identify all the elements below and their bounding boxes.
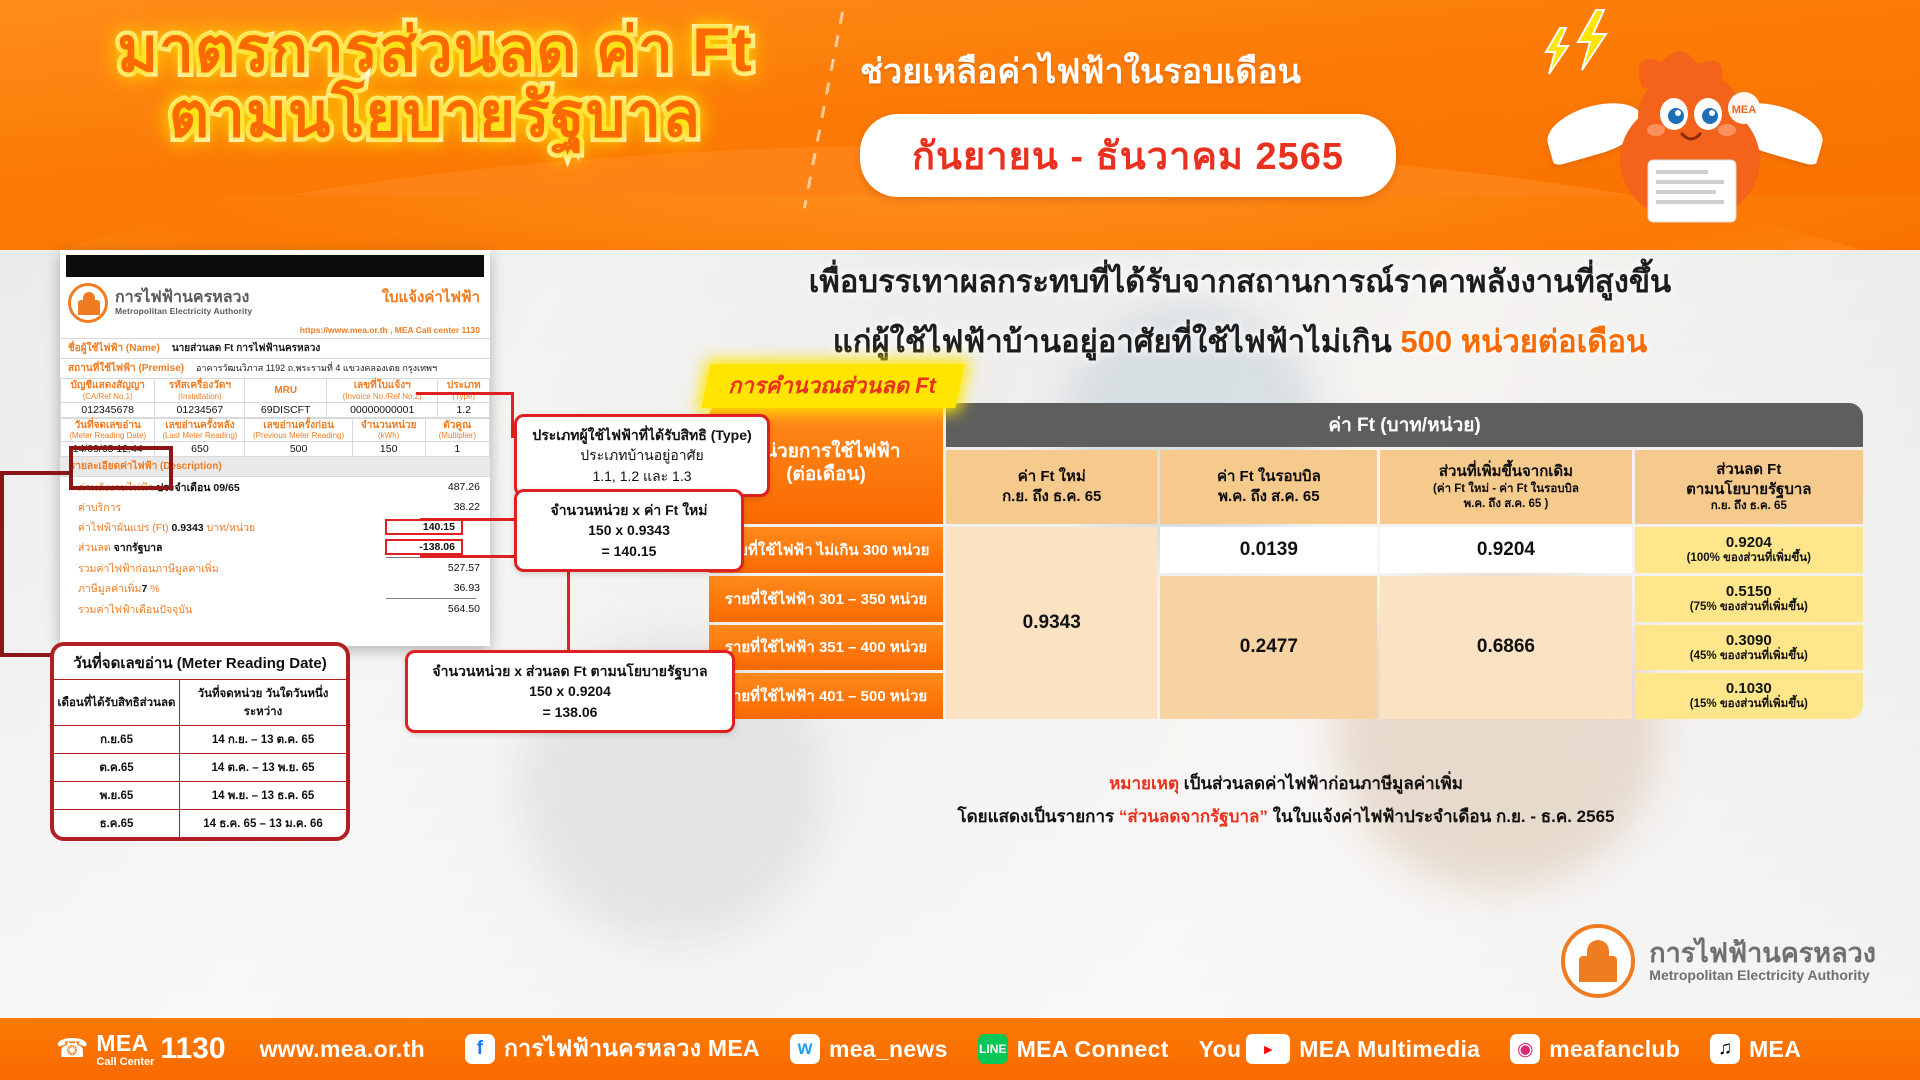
bill-line-item-total: รวมค่าไฟฟ้าเดือนปัจจุบัน 564.50 <box>60 599 490 619</box>
note-line-2: โดยแสดงเป็นรายการ “ส่วนลดจากรัฐบาล” ในใบ… <box>706 803 1866 830</box>
discount-note-3: (15% ของส่วนที่เพิ่มขึ้น) <box>1637 698 1861 712</box>
subhead-3-l1: ส่วนลด Ft <box>1640 460 1858 480</box>
subhead-3-l3: ก.ย. ถึง ธ.ค. 65 <box>1640 499 1858 514</box>
bill-line-label: ค่าไฟฟ้าผันแปร (Ft) 0.9343 บาท/หน่วย <box>78 519 385 536</box>
bill-line-amount: 527.57 <box>385 562 480 574</box>
table-row: เดือนที่ได้รับสิทธิส่วนลด วันที่จดหน่วย … <box>54 680 346 726</box>
footer-line[interactable]: LINE MEA Connect <box>978 1034 1169 1064</box>
callout-type-line2: ประเภทบ้านอยู่อาศัย <box>531 445 753 465</box>
col-subhead-increase: ส่วนที่เพิ่มขึ้นจากเดิม (ค่า Ft ใหม่ - ค… <box>1380 450 1631 524</box>
bill-line-amount: 36.93 <box>385 582 480 594</box>
bill-total-amount: 564.50 <box>385 603 480 615</box>
footer-line-label: MEA Connect <box>1017 1036 1169 1063</box>
footer-tiktok-label: MEA <box>1749 1036 1801 1063</box>
subhead-3-l2: ตามนโยบายรัฐบาล <box>1640 480 1858 500</box>
subhead-0-l2: ก.ย. ถึง ธ.ค. 65 <box>951 487 1152 507</box>
meter-head-0: วันที่จดเลขอ่าน <box>63 420 152 432</box>
footer-facebook[interactable]: f การไฟฟ้านครหลวง MEA <box>465 1031 760 1067</box>
mascot-body: MEA <box>1530 10 1850 240</box>
col-group-head-ft: ค่า Ft (บาท/หน่วย) <box>946 403 1863 447</box>
meter-head-1: เลขอ่านครั้งหลัง <box>157 420 242 432</box>
bill-doc-title: ใบแจ้งค่าไฟฟ้า <box>382 285 480 309</box>
callout-ft-new: จำนวนหน่วย x ค่า Ft ใหม่ 150 x 0.9343 = … <box>514 489 744 572</box>
note-line-2-b: ในใบแจ้งค่าไฟฟ้าประจำเดือน ก.ย. - ธ.ค. 2… <box>1268 807 1615 826</box>
mrd-cell-month: ก.ย.65 <box>54 726 180 754</box>
acct-head-en-0: (CA/Ref No.1) <box>63 392 152 401</box>
footer-youtube-you: You <box>1199 1036 1242 1063</box>
note-line-1-rest: เป็นส่วนลดค่าไฟฟ้าก่อนภาษีมูลค่าเพิ่ม <box>1179 774 1463 793</box>
meter-head-en-3: (kWh) <box>355 431 423 440</box>
twitter-icon: w <box>790 1034 820 1064</box>
callout-ftnew-line1: จำนวนหน่วย x ค่า Ft ใหม่ <box>531 500 727 520</box>
callout-discount-line1: จำนวนหน่วย x ส่วนลด Ft ตามนโยบายรัฐบาล <box>422 661 718 681</box>
col-subhead-ft-old: ค่า Ft ในรอบบิล พ.ค. ถึง ส.ค. 65 <box>1160 450 1377 524</box>
mrd-cell-range: 14 ต.ค. – 13 พ.ย. 65 <box>180 754 346 782</box>
table-row: รายที่ใช้ไฟฟ้า 301 – 350 หน่วย 0.2477 0.… <box>709 576 1863 622</box>
subhead-2-l2: (ค่า Ft ใหม่ - ค่า Ft ในรอบบิล <box>1385 482 1626 497</box>
bill-barcode-bar <box>66 255 484 277</box>
footer-facebook-label: การไฟฟ้านครหลวง MEA <box>504 1031 760 1067</box>
mea-mascot: MEA <box>1530 10 1850 240</box>
acct-val-2: 69DISCFT <box>245 402 327 417</box>
footer-callcenter-label: Call Center <box>96 1057 154 1069</box>
mrd-cell-range: 14 ก.ย. – 13 ต.ค. 65 <box>180 726 346 754</box>
ft-discount-table: หน่วยการใช้ไฟฟ้า (ต่อเดือน) ค่า Ft (บาท/… <box>706 400 1866 722</box>
note-line-1: หมายเหตุ เป็นส่วนลดค่าไฟฟ้าก่อนภาษีมูลค่… <box>706 770 1866 797</box>
footer-website-label: www.mea.or.th <box>260 1036 425 1063</box>
discount-value-0: 0.9204 <box>1637 534 1861 552</box>
cell-discount-0: 0.9204 (100% ของส่วนที่เพิ่มขึ้น) <box>1635 527 1863 573</box>
meter-head-en-2: (Previous Meter Reading) <box>247 431 349 440</box>
footer-mea-label: MEA <box>96 1030 154 1057</box>
instagram-icon: ◉ <box>1510 1034 1540 1064</box>
cell-ft-old-0: 0.0139 <box>1160 527 1377 573</box>
subhead-1-l1: ค่า Ft ในรอบบิล <box>1165 467 1372 487</box>
acct-val-4: 1.2 <box>438 402 490 417</box>
bill-account-table: บัญชีแสดงสัญญา (CA/Ref No.1) รหัสเครื่อง… <box>60 378 490 418</box>
note-line-2-quote: “ส่วนลดจากรัฐบาล” <box>1119 807 1268 826</box>
bill-line-item: ภาษีมูลค่าเพิ่ม7 % 36.93 <box>60 578 490 598</box>
mrd-cell-range: 14 พ.ย. – 13 ธ.ค. 65 <box>180 782 346 810</box>
description-line-1: เพื่อบรรเทาผลกระทบที่ได้รับจากสถานการณ์ร… <box>575 256 1905 306</box>
row-label-2: รายที่ใช้ไฟฟ้า 351 – 400 หน่วย <box>709 625 943 671</box>
mea-logo-circle-icon <box>1561 924 1635 998</box>
electricity-bill-card: การไฟฟ้านครหลวง Metropolitan Electricity… <box>60 250 490 646</box>
callout-ftnew-line3: = 140.15 <box>531 541 727 561</box>
meter-head-en-4: (Multiplier) <box>428 431 487 440</box>
table-row: ต.ค.65 14 ต.ค. – 13 พ.ย. 65 <box>54 754 346 782</box>
acct-val-0: 012345678 <box>61 402 155 417</box>
table-row: พ.ย.65 14 พ.ย. – 13 ธ.ค. 65 <box>54 782 346 810</box>
mrd-cell-range: 14 ธ.ค. 65 – 13 ม.ค. 66 <box>180 810 346 838</box>
tiktok-icon: ♫ <box>1710 1034 1740 1064</box>
bill-premise-value: อาคารวัฒนวิภาส 1192 ถ.พระรามที่ 4 แขวงคล… <box>196 361 437 375</box>
header-banner: มาตรการส่วนลด ค่า Ft ตามนโยบายรัฐบาล ช่ว… <box>0 0 1920 255</box>
mrd-header-0: เดือนที่ได้รับสิทธิส่วนลด <box>54 680 180 726</box>
bill-line-item: รวมค่าไฟฟ้าก่อนภาษีมูลค่าเพิ่ม 527.57 <box>60 558 490 578</box>
acct-head-4: ประเภท <box>440 380 487 392</box>
footer-tiktok[interactable]: ♫ MEA <box>1710 1034 1801 1064</box>
discount-value-2: 0.3090 <box>1637 632 1861 650</box>
note-block: หมายเหตุ เป็นส่วนลดค่าไฟฟ้าก่อนภาษีมูลค่… <box>706 770 1866 830</box>
footer-twitter-label: mea_news <box>829 1036 948 1063</box>
meter-val-3: 150 <box>352 442 425 457</box>
cell-discount-3: 0.1030 (15% ของส่วนที่เพิ่มขึ้น) <box>1635 673 1863 719</box>
bill-line-label: ค่าบริการ <box>78 499 385 516</box>
subhead-1-l2: พ.ค. ถึง ส.ค. 65 <box>1165 487 1372 507</box>
footer-instagram[interactable]: ◉ meafanclub <box>1510 1034 1680 1064</box>
footer-website[interactable]: www.mea.or.th <box>260 1036 425 1063</box>
bill-name-row: ชื่อผู้ใช้ไฟฟ้า (Name) นายส่วนลด Ft การไ… <box>60 338 490 358</box>
callout-discount: จำนวนหน่วย x ส่วนลด Ft ตามนโยบายรัฐบาล 1… <box>405 650 735 733</box>
cell-ft-old-1: 0.2477 <box>1160 576 1377 719</box>
bill-line-label: ส่วนลด จากรัฐบาล <box>78 539 385 556</box>
callout-ftnew-line2: 150 x 0.9343 <box>531 520 727 540</box>
bill-line-label: รวมค่าไฟฟ้าเดือนปัจจุบัน <box>78 601 385 618</box>
acct-head-3: เลขที่ใบแจ้งฯ <box>329 380 436 392</box>
connector-ftnew <box>420 518 515 521</box>
description-line-2: แก่ผู้ใช้ไฟฟ้าบ้านอยู่อาศัยที่ใช้ไฟฟ้าไม… <box>575 316 1905 366</box>
facebook-icon: f <box>465 1034 495 1064</box>
callout-discount-line3: = 138.06 <box>422 702 718 722</box>
bill-meter-table: วันที่จดเลขอ่าน (Meter Reading Date) เลข… <box>60 418 490 458</box>
bill-discount-amount: -138.06 <box>385 539 463 555</box>
acct-head-2: MRU <box>247 385 324 397</box>
mrd-cell-month: ธ.ค.65 <box>54 810 180 838</box>
table-row: ธ.ค.65 14 ธ.ค. 65 – 13 ม.ค. 66 <box>54 810 346 838</box>
mrd-cell-month: ต.ค.65 <box>54 754 180 782</box>
note-label: หมายเหตุ <box>1109 774 1179 793</box>
meter-val-4: 1 <box>425 442 489 457</box>
note-line-2-a: โดยแสดงเป็นรายการ <box>958 807 1119 826</box>
cell-increase-1: 0.6866 <box>1380 576 1631 719</box>
meter-reading-date-table: วันที่จดเลขอ่าน (Meter Reading Date) เดื… <box>50 642 350 841</box>
cell-increase-0: 0.9204 <box>1380 527 1631 573</box>
acct-head-1: รหัสเครื่องวัดฯ <box>157 380 242 392</box>
description-block: เพื่อบรรเทาผลกระทบที่ได้รับจากสถานการณ์ร… <box>575 256 1905 366</box>
footer-youtube[interactable]: You ► MEA Multimedia <box>1199 1034 1481 1064</box>
bill-line-item: ค่าพลังงานไฟฟ้า ประจำเดือน 09/65 487.26 <box>60 477 490 497</box>
footer-youtube-label: MEA Multimedia <box>1299 1036 1480 1063</box>
acct-val-3: 00000000001 <box>326 402 438 417</box>
mrd-header-1: วันที่จดหน่วย วันใดวันหนึ่งระหว่าง <box>180 680 346 726</box>
discount-value-3: 0.1030 <box>1637 680 1861 698</box>
row-label-3: รายที่ใช้ไฟฟ้า 401 – 500 หน่วย <box>709 673 943 719</box>
col-subhead-ft-new: ค่า Ft ใหม่ ก.ย. ถึง ธ.ค. 65 <box>946 450 1157 524</box>
acct-head-0: บัญชีแสดงสัญญา <box>63 380 152 392</box>
subhead-0-l1: ค่า Ft ใหม่ <box>951 467 1152 487</box>
mrd-caption: วันที่จดเลขอ่าน (Meter Reading Date) <box>54 646 346 679</box>
discount-note-2: (45% ของส่วนที่เพิ่มขึ้น) <box>1637 650 1861 664</box>
connector-line-mrd-h <box>0 471 70 475</box>
table-row: 14/09/65 12.44 650 500 150 1 <box>61 442 490 457</box>
cell-discount-1: 0.5150 (75% ของส่วนที่เพิ่มขึ้น) <box>1635 576 1863 622</box>
footer-callcenter-number: 1130 <box>160 1032 225 1066</box>
footer-callcenter[interactable]: ☎ MEA Call Center 1130 <box>56 1030 226 1069</box>
meter-head-en-1: (Last Meter Reading) <box>157 431 242 440</box>
banner-subsection: ช่วยเหลือค่าไฟฟ้าในรอบเดือน กันยายน - ธั… <box>860 44 1560 197</box>
title-line-1: มาตรการส่วนลด ค่า Ft <box>75 18 795 83</box>
mea-logo-th: การไฟฟ้านครหลวง <box>1649 939 1876 967</box>
connector-line-mrd-h2 <box>0 653 52 657</box>
bill-line-label: รวมค่าไฟฟ้าก่อนภาษีมูลค่าเพิ่ม <box>78 560 385 577</box>
table-row: 012345678 01234567 69DISCFT 00000000001 … <box>61 402 490 417</box>
meter-val-0: 14/09/65 12.44 <box>61 442 155 457</box>
bill-description-band: รายละเอียดค่าไฟฟ้า (Description) <box>60 457 490 477</box>
bill-line-amount: 487.26 <box>385 481 480 493</box>
callout-discount-line2: 150 x 0.9204 <box>422 681 718 701</box>
calc-table-title-banner: การคำนวณส่วนลด Ft <box>701 364 964 408</box>
callout-type-line1: ประเภทผู้ใช้ไฟฟ้าที่ได้รับสิทธิ (Type) <box>531 425 753 445</box>
table-row: รายที่ใช้ไฟฟ้า ไม่เกิน 300 หน่วย 0.9343 … <box>709 527 1863 573</box>
bill-premise-label: สถานที่ใช้ไฟฟ้า (Premise) <box>68 361 184 376</box>
mrd-grid: เดือนที่ได้รับสิทธิส่วนลด วันที่จดหน่วย … <box>54 679 346 837</box>
bill-brand-en: Metropolitan Electricity Authority <box>115 306 252 316</box>
meter-head-4: ตัวคูณ <box>428 420 487 432</box>
bill-line-item: ค่าบริการ 38.22 <box>60 497 490 517</box>
cell-ft-new: 0.9343 <box>946 527 1157 719</box>
connector-line-mrd-v <box>0 471 4 657</box>
footer-instagram-label: meafanclub <box>1549 1036 1680 1063</box>
content-stage: เพื่อบรรเทาผลกระทบที่ได้รับจากสถานการณ์ร… <box>0 250 1920 1020</box>
meter-head-2: เลขอ่านครั้งก่อน <box>247 420 349 432</box>
mrd-cell-month: พ.ย.65 <box>54 782 180 810</box>
bill-line-label: ค่าพลังงานไฟฟ้า ประจำเดือน 09/65 <box>78 479 385 496</box>
row-label-0: รายที่ใช้ไฟฟ้า ไม่เกิน 300 หน่วย <box>709 527 943 573</box>
bill-name-value: นายส่วนลด Ft การไฟฟ้านครหลวง <box>172 341 320 356</box>
bill-brand-th: การไฟฟ้านครหลวง <box>115 290 252 307</box>
ft-discount-calc-section: การคำนวณส่วนลด Ft หน่วยการใช้ไฟฟ้า (ต่อเ… <box>706 400 1866 722</box>
mea-logo-icon <box>68 283 108 323</box>
svg-text:MEA: MEA <box>1732 104 1757 116</box>
meter-head-en-0: (Meter Reading Date) <box>63 431 152 440</box>
line-icon: LINE <box>978 1034 1008 1064</box>
bill-header: การไฟฟ้านครหลวง Metropolitan Electricity… <box>60 277 490 323</box>
subhead-2-l3: พ.ค. ถึง ส.ค. 65 ) <box>1385 497 1626 512</box>
callout-type: ประเภทผู้ใช้ไฟฟ้าที่ได้รับสิทธิ (Type) ป… <box>514 414 770 497</box>
table-row: วันที่จดเลขอ่าน (Meter Reading Date) เลข… <box>61 418 490 442</box>
calc-table-title: การคำนวณส่วนลด Ft <box>728 368 936 403</box>
acct-head-en-1: (Installation) <box>157 392 242 401</box>
connector-type-h <box>416 392 514 395</box>
cell-discount-2: 0.3090 (45% ของส่วนที่เพิ่มขึ้น) <box>1635 625 1863 671</box>
description-line-2-text: แก่ผู้ใช้ไฟฟ้าบ้านอยู่อาศัยที่ใช้ไฟฟ้าไม… <box>833 324 1401 359</box>
subhead-2-l1: ส่วนที่เพิ่มขึ้นจากเดิม <box>1385 462 1626 482</box>
bill-ft-amount: 140.15 <box>385 519 463 535</box>
phone-icon: ☎ <box>56 1033 88 1064</box>
meter-val-2: 500 <box>245 442 352 457</box>
description-highlight: 500 หน่วยต่อเดือน <box>1400 324 1647 359</box>
meter-val-1: 650 <box>155 442 245 457</box>
bill-url-line: https://www.mea.or.th , MEA Call center … <box>60 323 490 338</box>
title-line-2: ตามนโยบายรัฐบาล <box>75 83 795 148</box>
meter-head-3: จำนวนหน่วย <box>355 420 423 432</box>
footer-bar: ☎ MEA Call Center 1130 www.mea.or.th f ก… <box>0 1018 1920 1080</box>
row-label-1: รายที่ใช้ไฟฟ้า 301 – 350 หน่วย <box>709 576 943 622</box>
acct-val-1: 01234567 <box>155 402 245 417</box>
callout-type-line3: 1.1, 1.2 และ 1.3 <box>531 466 753 486</box>
mea-footer-logo: การไฟฟ้านครหลวง Metropolitan Electricity… <box>1561 924 1876 998</box>
discount-note-1: (75% ของส่วนที่เพิ่มขึ้น) <box>1637 601 1861 615</box>
bill-premise-row: สถานที่ใช้ไฟฟ้า (Premise) อาคารวัฒนวิภาส… <box>60 358 490 378</box>
bill-line-amount: 38.22 <box>385 501 480 513</box>
banner-subheadline: ช่วยเหลือค่าไฟฟ้าในรอบเดือน <box>860 44 1560 98</box>
bill-line-label: ภาษีมูลค่าเพิ่ม7 % <box>78 580 385 597</box>
page-title: มาตรการส่วนลด ค่า Ft ตามนโยบายรัฐบาล <box>75 18 795 148</box>
bill-name-label: ชื่อผู้ใช้ไฟฟ้า (Name) <box>68 341 160 356</box>
period-badge: กันยายน - ธันวาคม 2565 <box>860 114 1396 197</box>
col-subhead-discount: ส่วนลด Ft ตามนโยบายรัฐบาล ก.ย. ถึง ธ.ค. … <box>1635 450 1863 524</box>
table-row-group-head: หน่วยการใช้ไฟฟ้า (ต่อเดือน) ค่า Ft (บาท/… <box>709 403 1863 447</box>
table-row: ก.ย.65 14 ก.ย. – 13 ต.ค. 65 <box>54 726 346 754</box>
youtube-icon: ► <box>1246 1034 1290 1064</box>
table-row: บัญชีแสดงสัญญา (CA/Ref No.1) รหัสเครื่อง… <box>61 379 490 403</box>
period-label: กันยายน - ธันวาคม 2565 <box>912 136 1344 178</box>
discount-value-1: 0.5150 <box>1637 583 1861 601</box>
mea-logo-en: Metropolitan Electricity Authority <box>1649 967 1876 983</box>
footer-twitter[interactable]: w mea_news <box>790 1034 948 1064</box>
discount-note-0: (100% ของส่วนที่เพิ่มขึ้น) <box>1637 552 1861 566</box>
